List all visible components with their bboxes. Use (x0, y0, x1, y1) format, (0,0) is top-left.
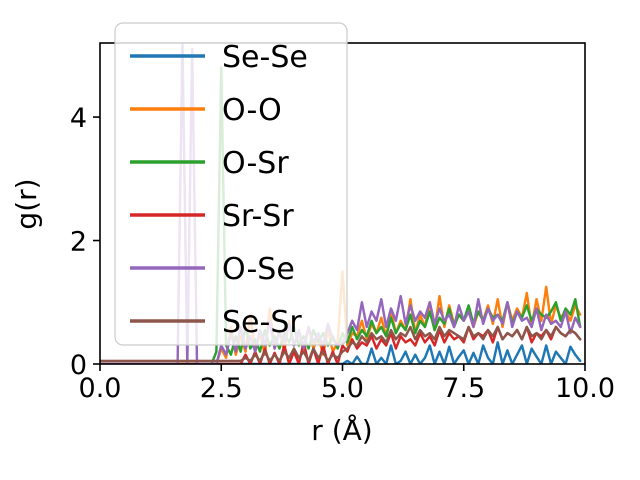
x-tick-label: 10.0 (555, 373, 615, 404)
y-axis-label: g(r) (10, 178, 43, 229)
legend-label-o-o: O-O (222, 93, 282, 128)
legend-label-o-se: O-Se (222, 252, 295, 287)
legend-label-se-sr: Se-Sr (222, 305, 302, 340)
y-tick-label: 0 (70, 350, 87, 381)
legend-label-sr-sr: Sr-Sr (222, 199, 294, 234)
x-tick-label: 7.5 (442, 373, 485, 404)
legend-label-se-se: Se-Se (222, 40, 308, 75)
rdf-plot: 0.02.55.07.510.0 024 r (Å) g(r) Se-SeO-O… (0, 0, 640, 480)
x-axis-ticks: 0.02.55.07.510.0 (79, 364, 616, 404)
y-tick-label: 2 (70, 227, 87, 258)
x-tick-label: 5.0 (321, 373, 364, 404)
x-axis-label: r (Å) (311, 413, 372, 447)
x-tick-label: 2.5 (200, 373, 243, 404)
legend-label-o-sr: O-Sr (222, 146, 289, 181)
legend[interactable]: Se-SeO-OO-SrSr-SrO-SeSe-Sr (115, 23, 347, 345)
figure-canvas: 0.02.55.07.510.0 024 r (Å) g(r) Se-SeO-O… (0, 0, 640, 480)
y-tick-label: 4 (70, 103, 87, 134)
y-axis-ticks: 024 (70, 103, 100, 381)
